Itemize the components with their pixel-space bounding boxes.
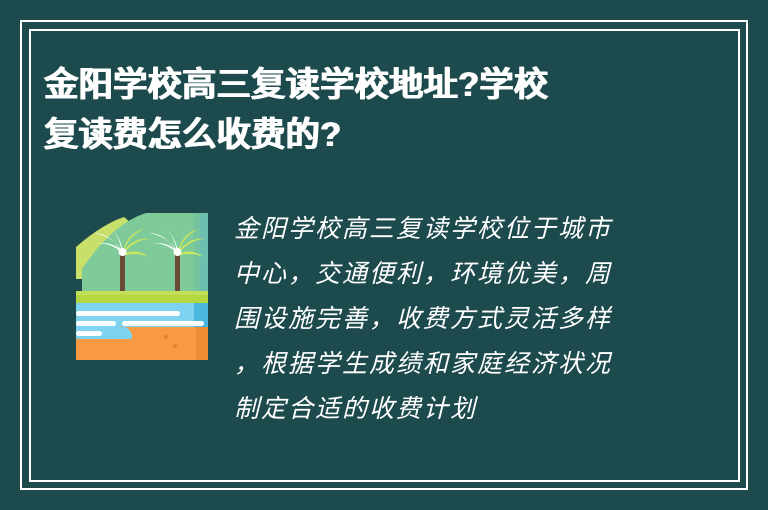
palm-trunk-left [120,250,125,295]
sand-beach [76,339,208,360]
palm-crown-right [174,248,182,256]
title-line-1: 金阳学校高三复读学校地址?学校 [44,60,644,110]
wave-line-3 [122,321,204,326]
wave-line-4 [76,331,102,336]
wave-line-2 [76,321,116,326]
body-line-5: 制定合适的收费计划 [234,386,666,431]
hill-edge-highlight [200,213,208,295]
sand-edge-shadow [196,327,208,360]
beach-illustration [76,207,208,360]
body-line-1: 金阳学校高三复读学校位于城市 [234,206,666,251]
title-line-2: 复读费怎么收费的? [44,110,644,160]
poster-canvas: 金阳学校高三复读学校地址?学校 复读费怎么收费的? [0,0,768,510]
palm-trunk-right [175,250,180,295]
wave-line-1 [76,311,180,316]
page-title: 金阳学校高三复读学校地址?学校 复读费怎么收费的? [44,60,644,160]
hill-main-shape [82,213,208,295]
body-line-2: 中心，交通便利，环境优美，周 [234,251,666,296]
sand-dot-2 [173,344,177,348]
palm-crown-left [119,248,127,256]
sand-dot-1 [164,335,168,339]
body-line-4: ，根据学生成绩和家庭经济状况 [234,341,666,386]
body-text: 金阳学校高三复读学校位于城市 中心，交通便利，环境优美，周 围设施完善，收费方式… [234,206,666,431]
body-line-3: 围设施完善，收费方式灵活多样 [234,296,666,341]
grass-strip-highlight [76,291,208,295]
